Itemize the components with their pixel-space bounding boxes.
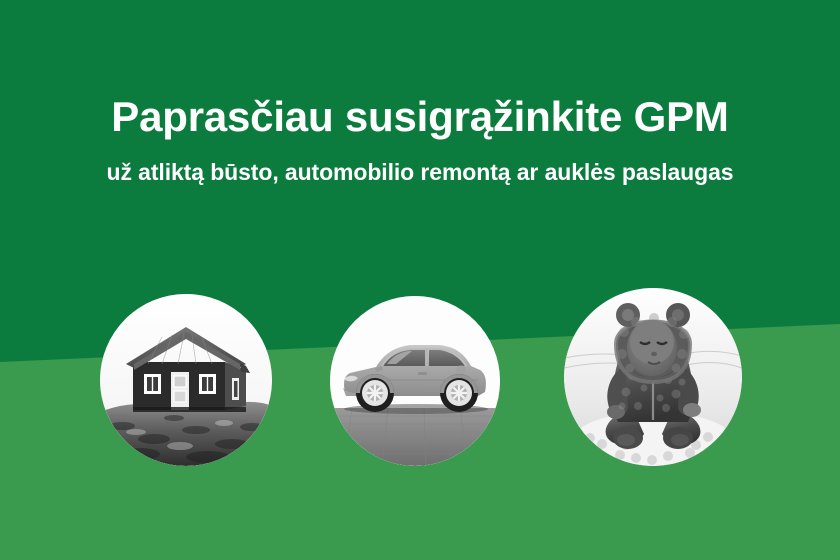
- house-photo: [100, 294, 272, 466]
- car-photo-icon: [330, 296, 500, 466]
- photo-row: [0, 0, 840, 560]
- car-photo: [330, 296, 500, 466]
- promo-banner: Paprasčiau susigrąžinkite GPM už atliktą…: [0, 0, 840, 560]
- baby-photo-icon: [564, 288, 742, 466]
- house-photo-icon: [100, 294, 272, 466]
- baby-photo: [564, 288, 742, 466]
